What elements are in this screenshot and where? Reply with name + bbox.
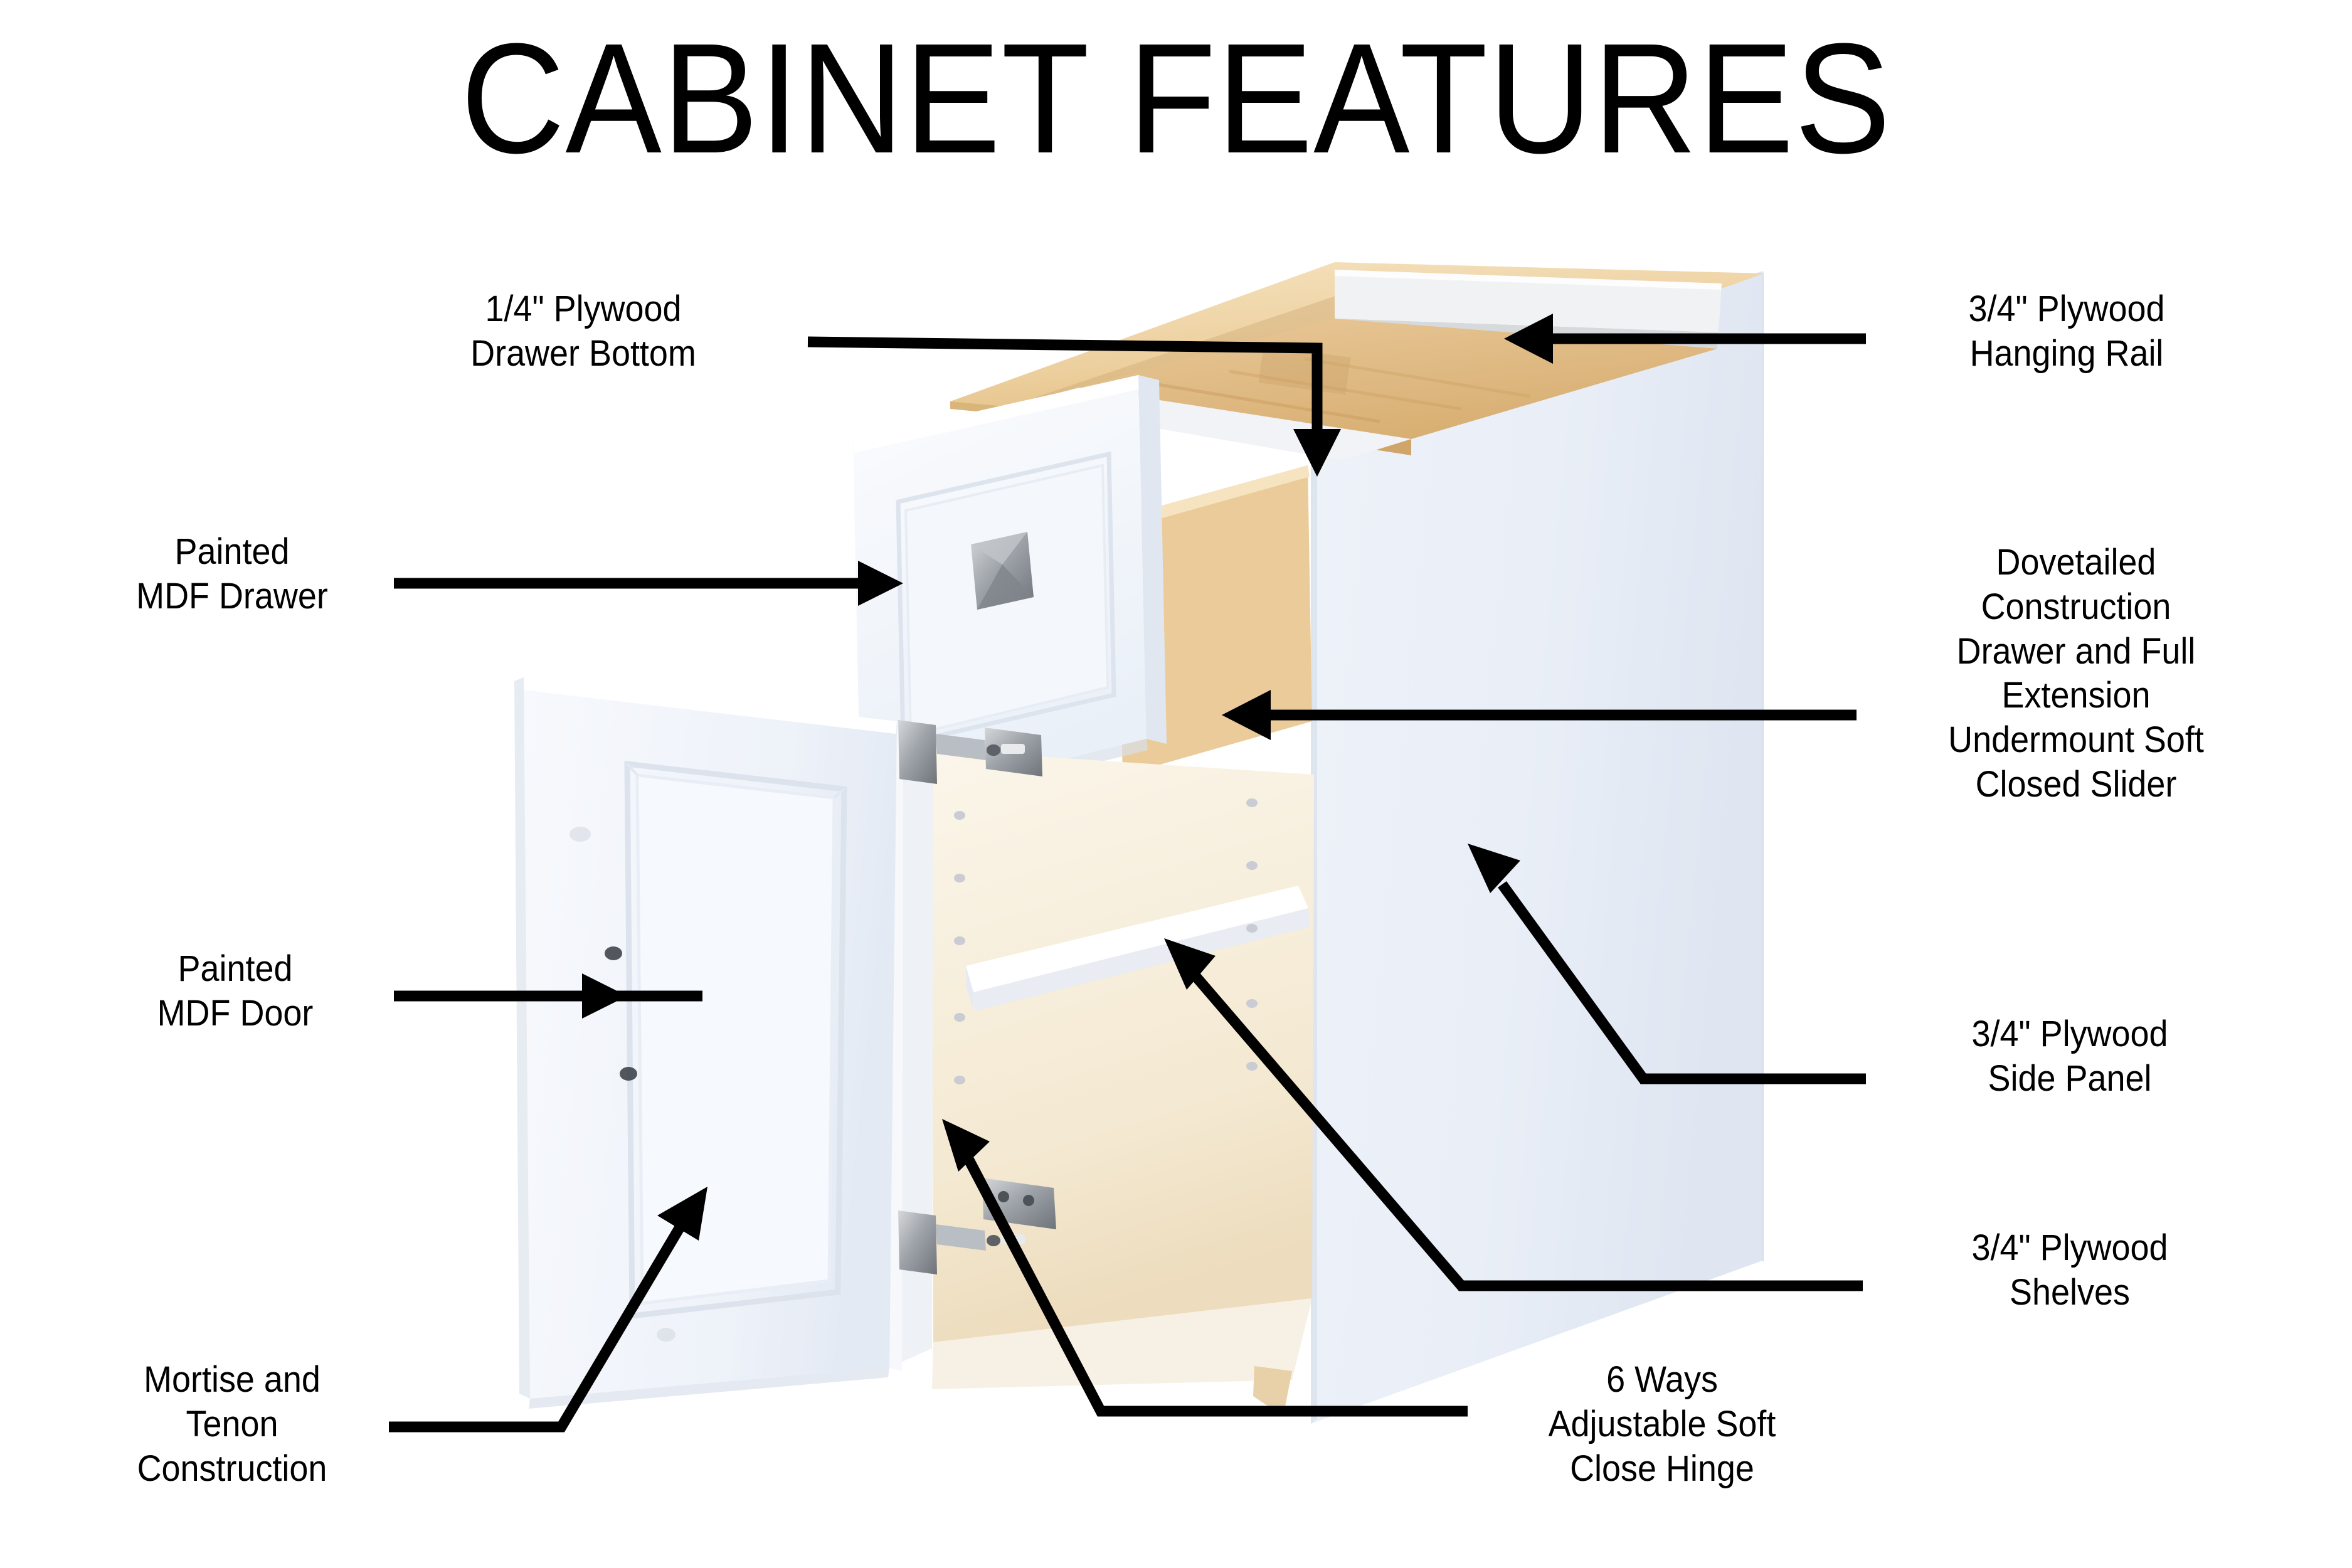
drawer-bottom-label: 1/4" Plywood Drawer Bottom <box>414 287 752 376</box>
soft-close-hinge-label: 6 Ways Adjustable Soft Close Hinge <box>1475 1358 1848 1491</box>
hanging-rail-label: 3/4" Plywood Hanging Rail <box>1888 287 2244 376</box>
painted-drawer-label: Painted MDF Drawer <box>80 530 384 619</box>
side-panel-label: 3/4" Plywood Side Panel <box>1900 1012 2238 1101</box>
poster-canvas: CABINET FEATURES <box>0 0 2352 1568</box>
cabinet-interior <box>889 721 1314 1389</box>
drawer-knob <box>971 532 1034 610</box>
shelves-label: 3/4" Plywood Shelves <box>1900 1226 2238 1315</box>
painted-door-label: Painted MDF Door <box>104 947 367 1036</box>
bottom-plywood-edge <box>1253 1366 1292 1416</box>
open-door <box>514 677 897 1409</box>
mortise-tenon-label: Mortise and Tenon Construction <box>69 1358 396 1491</box>
dovetailed-construction-label: Dovetailed Construction Drawer and Full … <box>1878 541 2274 807</box>
